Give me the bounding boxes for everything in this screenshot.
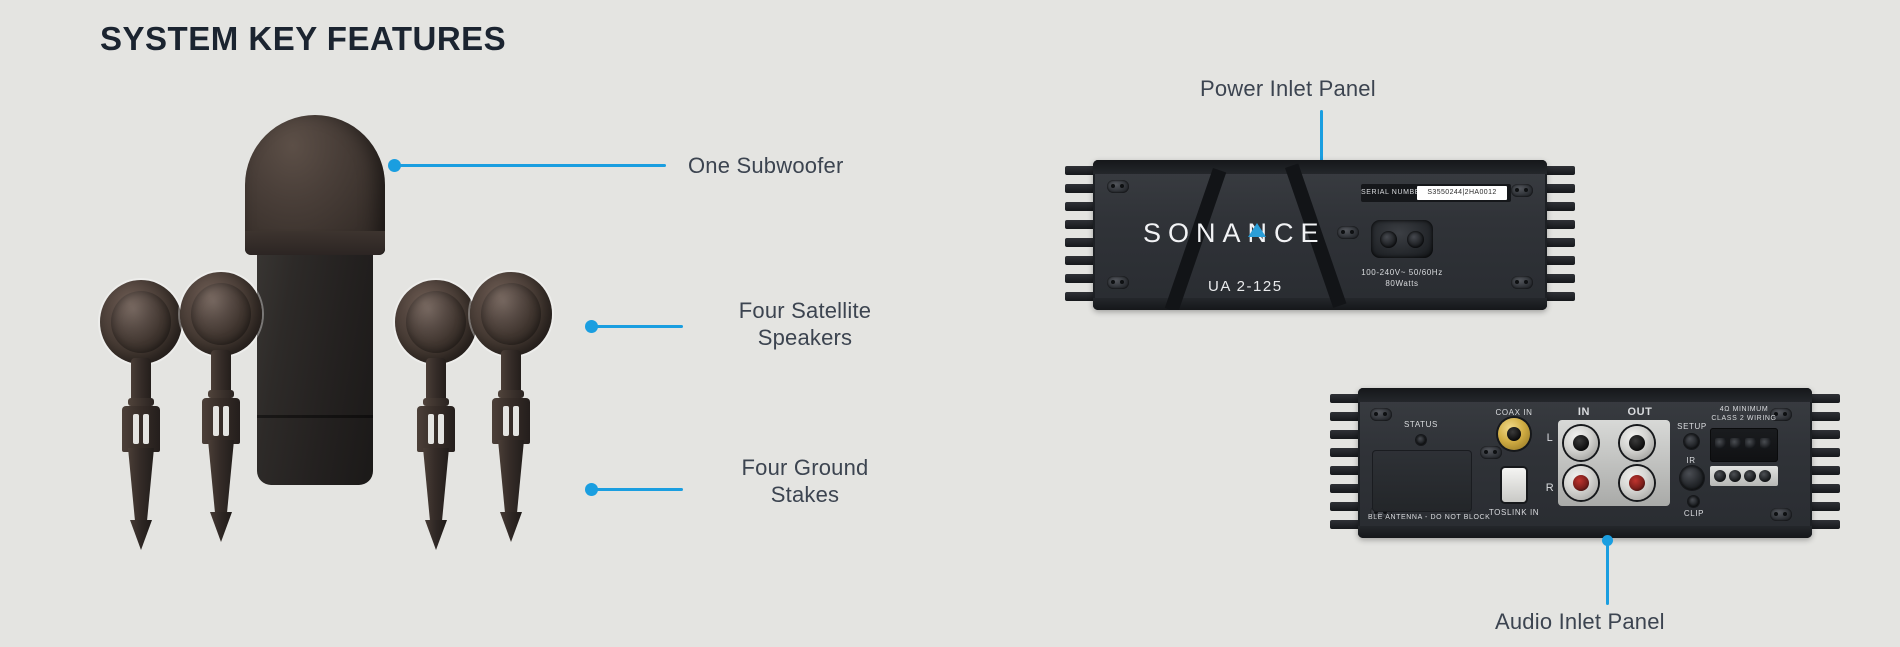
stake-window xyxy=(213,406,219,436)
satellite-speaker-2 xyxy=(180,272,280,356)
coax-in-jack[interactable] xyxy=(1498,418,1530,450)
panel-bottom-rail xyxy=(1358,526,1812,538)
callout-label-audio-inlet: Audio Inlet Panel xyxy=(1495,608,1665,635)
ground-stake-3 xyxy=(417,406,455,546)
stake-head xyxy=(202,398,240,444)
ble-antenna-plate xyxy=(1372,450,1472,512)
screw xyxy=(1480,446,1502,459)
callout-line-subwoofer xyxy=(396,164,666,167)
satellite-collar xyxy=(208,390,234,398)
satellite-head xyxy=(470,272,552,356)
callout-line-stakes xyxy=(593,488,683,491)
callout-label-satellites: Four Satellite Speakers xyxy=(705,297,905,351)
rca-in-right-jack[interactable] xyxy=(1564,466,1598,500)
rca-out-left-jack[interactable] xyxy=(1620,426,1654,460)
brand-triangle-icon xyxy=(1248,223,1266,237)
panel-top-rail xyxy=(1358,388,1812,402)
screw xyxy=(1511,184,1533,197)
callout-line-audio-inlet xyxy=(1606,543,1609,605)
toslink-in-jack[interactable] xyxy=(1502,468,1526,502)
rca-in-left-jack[interactable] xyxy=(1564,426,1598,460)
stake-shaft xyxy=(498,440,524,516)
subwoofer-seam xyxy=(257,415,373,418)
stake-window xyxy=(223,406,229,436)
stake-window xyxy=(513,406,519,436)
satellite-collar xyxy=(423,398,449,406)
stake-window xyxy=(133,414,139,444)
panel-top-rail xyxy=(1093,160,1547,174)
ground-stake-1 xyxy=(122,406,160,546)
ground-stake-4 xyxy=(492,398,530,538)
rca-out-label: OUT xyxy=(1614,406,1666,418)
terminal-polarity-strip xyxy=(1710,466,1778,486)
status-label: STATUS xyxy=(1386,420,1456,429)
power-inlet-panel: SONANCE UA 2-125 SERIAL NUMBER S3550244|… xyxy=(1065,160,1575,330)
status-led xyxy=(1416,435,1426,445)
power-panel-face: SONANCE UA 2-125 SERIAL NUMBER S3550244|… xyxy=(1093,160,1547,310)
iec-pin xyxy=(1407,231,1424,248)
speaker-terminal-block[interactable] xyxy=(1710,428,1778,462)
wiring-note-line2: CLASS 2 WIRING xyxy=(1706,415,1782,422)
callout-label-stakes: Four Ground Stakes xyxy=(705,454,905,508)
model-number: UA 2-125 xyxy=(1208,278,1283,295)
serial-number-value: S3550244|2HA0012 xyxy=(1417,186,1507,200)
satellite-collar xyxy=(128,398,154,406)
stake-window xyxy=(438,414,444,444)
stake-shaft xyxy=(128,448,154,524)
infographic-canvas: SYSTEM KEY FEATURES xyxy=(0,0,1900,647)
stake-window xyxy=(503,406,509,436)
callout-label-subwoofer: One Subwoofer xyxy=(688,152,843,179)
callout-line-satellites xyxy=(593,325,683,328)
screw xyxy=(1337,226,1359,239)
stake-shaft xyxy=(208,440,234,516)
ir-label: IR xyxy=(1676,456,1706,465)
stake-head xyxy=(122,406,160,452)
screw xyxy=(1107,276,1129,289)
channel-right-label: R xyxy=(1544,482,1556,494)
rca-out-right-jack[interactable] xyxy=(1620,466,1654,500)
satellite-collar xyxy=(498,390,524,398)
setup-button[interactable] xyxy=(1684,434,1699,449)
page-title: SYSTEM KEY FEATURES xyxy=(100,20,506,58)
stake-tip xyxy=(500,512,522,542)
stake-head xyxy=(417,406,455,452)
wattage-rating: 80Watts xyxy=(1349,279,1455,288)
iec-pin xyxy=(1380,231,1397,248)
panel-bottom-rail xyxy=(1093,298,1547,310)
clip-led xyxy=(1688,496,1699,507)
ir-jack[interactable] xyxy=(1680,466,1704,490)
stake-tip xyxy=(210,512,232,542)
serial-number-label: SERIAL NUMBER xyxy=(1361,189,1417,196)
setup-label: SETUP xyxy=(1670,422,1714,431)
stake-window xyxy=(143,414,149,444)
brand-wordmark: SONANCE xyxy=(1143,218,1326,249)
subwoofer-dome-lip xyxy=(245,231,385,255)
voltage-rating: 100-240V~ 50/60Hz xyxy=(1349,268,1455,277)
ble-antenna-note: BLE ANTENNA - DO NOT BLOCK xyxy=(1368,514,1480,521)
ground-stake-2 xyxy=(202,398,240,538)
wiring-note-line1: 4Ω MINIMUM xyxy=(1706,406,1782,413)
screw xyxy=(1511,276,1533,289)
satellite-head xyxy=(395,280,477,364)
stake-tip xyxy=(130,520,152,550)
satellite-head xyxy=(180,272,262,356)
screw xyxy=(1770,508,1792,521)
audio-panel-face: STATUS BLE ANTENNA - DO NOT BLOCK COAX I… xyxy=(1358,388,1812,538)
stake-window xyxy=(428,414,434,444)
satellite-head xyxy=(100,280,182,364)
channel-left-label: L xyxy=(1544,432,1556,444)
stake-head xyxy=(492,398,530,444)
callout-label-power-inlet: Power Inlet Panel xyxy=(1200,75,1376,102)
satellite-speaker-4 xyxy=(470,272,570,356)
audio-inlet-panel: STATUS BLE ANTENNA - DO NOT BLOCK COAX I… xyxy=(1330,388,1840,558)
coax-in-label: COAX IN xyxy=(1482,408,1546,417)
rca-in-label: IN xyxy=(1562,406,1606,418)
stake-shaft xyxy=(423,448,449,524)
stake-tip xyxy=(425,520,447,550)
clip-label: CLIP xyxy=(1676,509,1712,518)
screw xyxy=(1107,180,1129,193)
toslink-in-label: TOSLINK IN xyxy=(1476,508,1552,517)
iec-power-inlet xyxy=(1371,220,1433,258)
